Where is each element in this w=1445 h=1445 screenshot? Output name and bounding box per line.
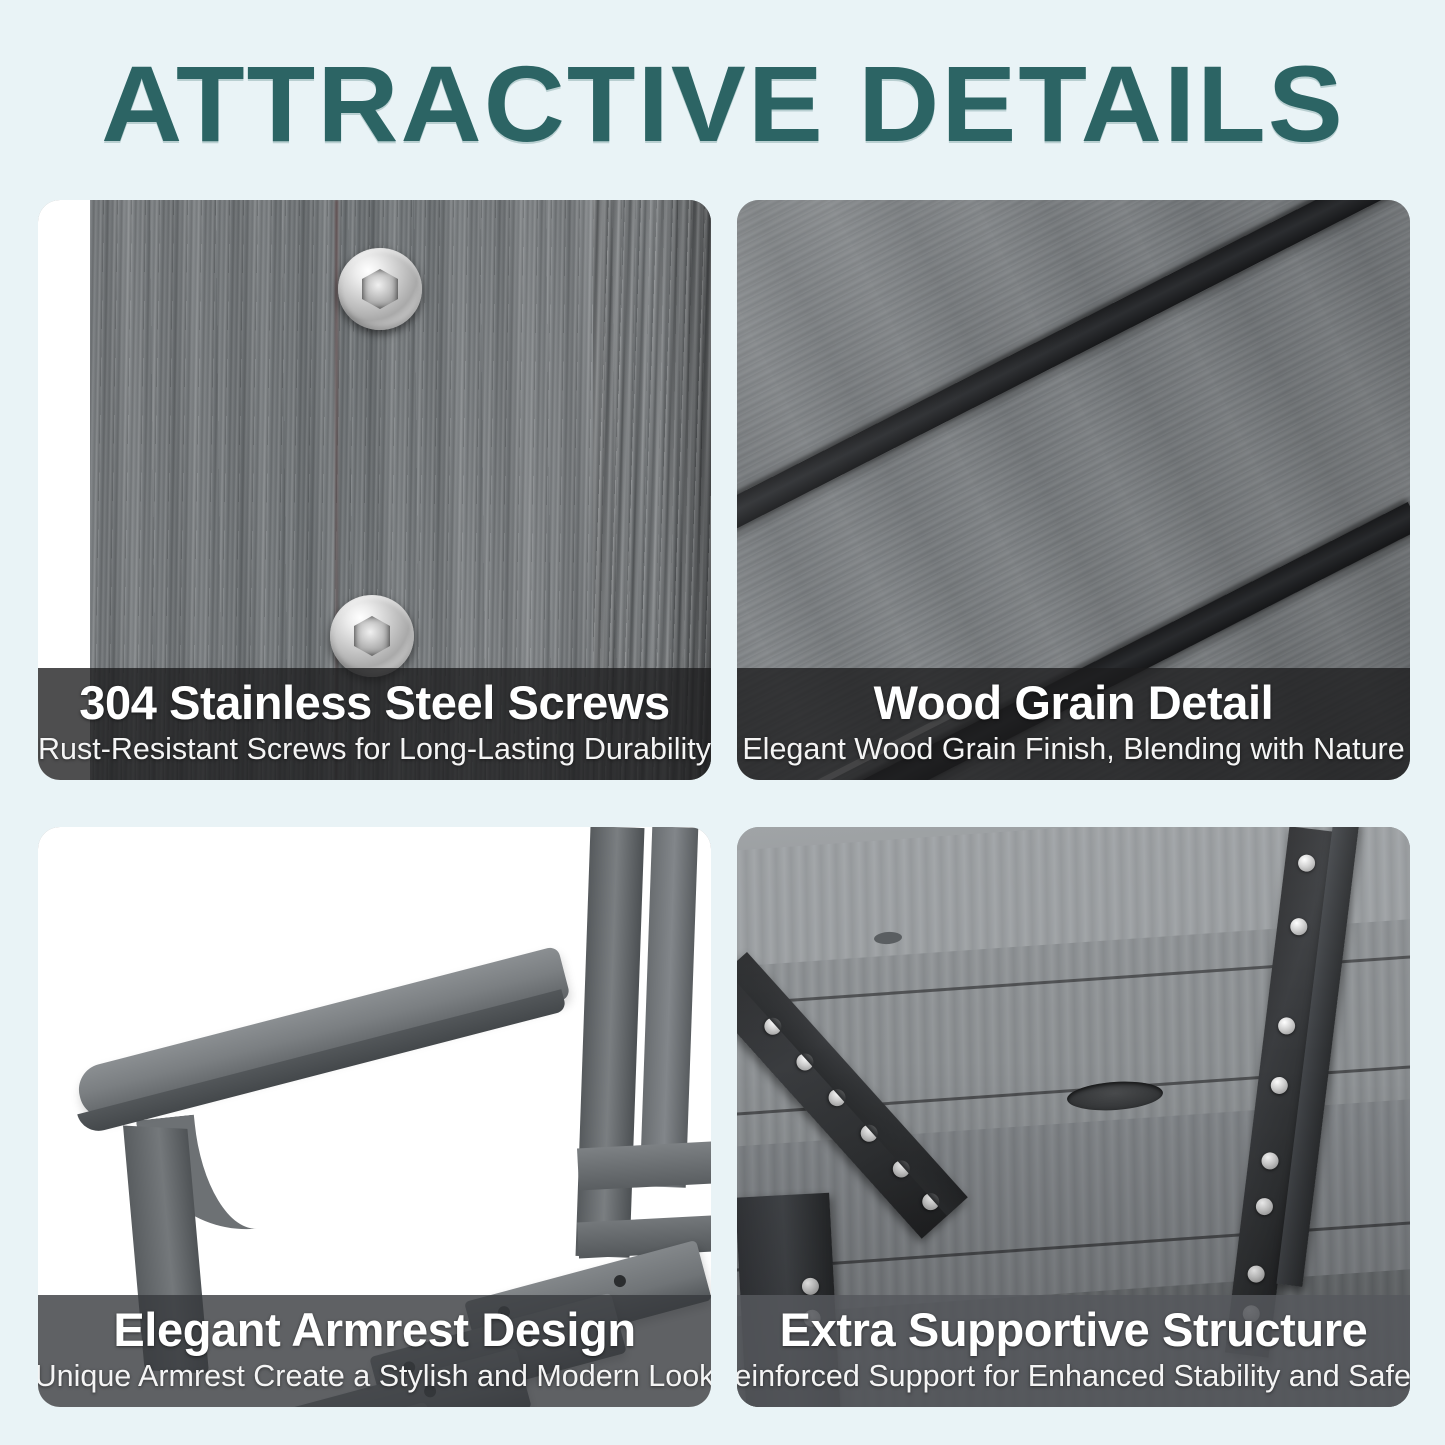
panel-caption: 304 Stainless Steel Screws Rust-Resistan… bbox=[38, 668, 711, 780]
hex-screw-icon bbox=[330, 595, 414, 677]
feature-panel-elegant-armrest-design: Elegant Armrest Design Unique Armrest Cr… bbox=[38, 827, 711, 1407]
panel-caption-subtitle: Reinforced Support for Enhanced Stabilit… bbox=[737, 1359, 1410, 1394]
feature-panel-wood-grain-detail: Wood Grain Detail Elegant Wood Grain Fin… bbox=[737, 200, 1410, 780]
panel-caption-subtitle: Elegant Wood Grain Finish, Blending with… bbox=[742, 732, 1404, 767]
feature-panel-grid: 304 Stainless Steel Screws Rust-Resistan… bbox=[38, 200, 1410, 1407]
hex-screw-icon bbox=[338, 248, 422, 330]
panel-caption: Elegant Armrest Design Unique Armrest Cr… bbox=[38, 1295, 711, 1407]
panel-caption-title: Elegant Armrest Design bbox=[113, 1306, 635, 1354]
panel-caption-title: Extra Supportive Structure bbox=[780, 1306, 1368, 1354]
panel-caption-subtitle: Unique Armrest Create a Stylish and Mode… bbox=[38, 1359, 711, 1394]
panel-caption-title: Wood Grain Detail bbox=[874, 679, 1274, 727]
panel-caption-subtitle: Rust-Resistant Screws for Long-Lasting D… bbox=[38, 732, 711, 767]
panel-caption-title: 304 Stainless Steel Screws bbox=[79, 679, 670, 727]
feature-panel-extra-supportive-structure: Extra Supportive Structure Reinforced Su… bbox=[737, 827, 1410, 1407]
page-header: ATTRACTIVE DETAILS bbox=[0, 0, 1445, 200]
page-title: ATTRACTIVE DETAILS bbox=[101, 42, 1345, 158]
feature-panel-stainless-steel-screws: 304 Stainless Steel Screws Rust-Resistan… bbox=[38, 200, 711, 780]
panel-caption: Extra Supportive Structure Reinforced Su… bbox=[737, 1295, 1410, 1407]
panel-caption: Wood Grain Detail Elegant Wood Grain Fin… bbox=[737, 668, 1410, 780]
